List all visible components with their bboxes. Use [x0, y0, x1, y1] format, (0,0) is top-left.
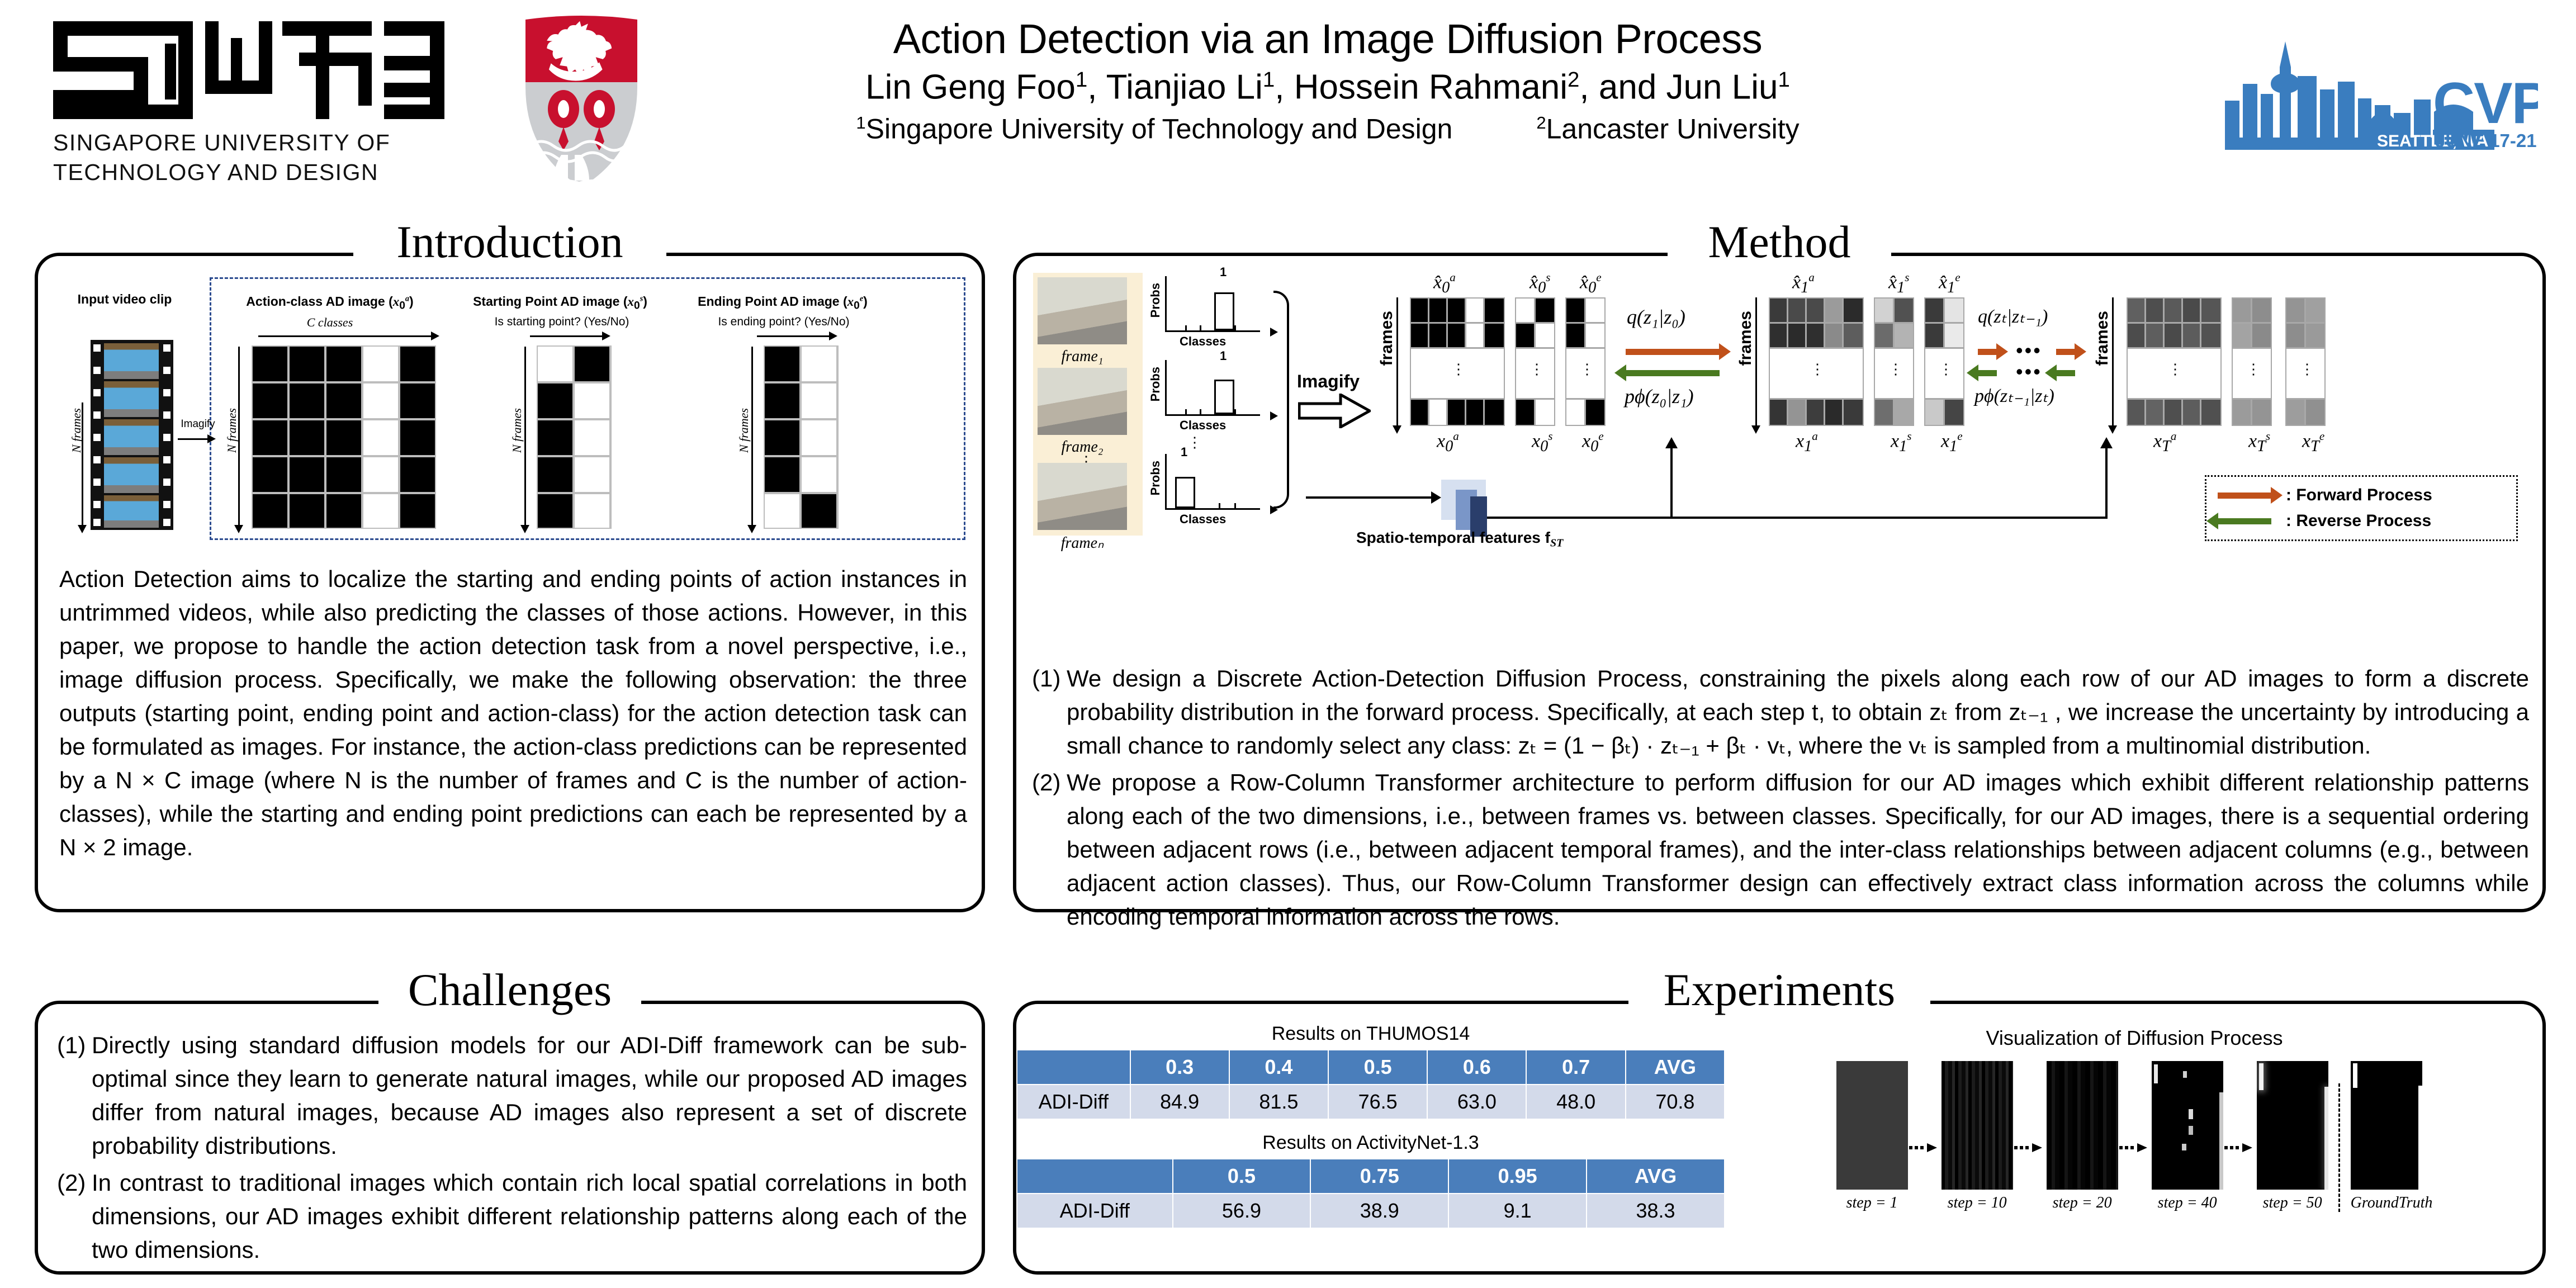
classes-axis-label-n: Classes — [1180, 512, 1226, 527]
st-bus-riser-2 — [2105, 447, 2108, 519]
cvpr-logo: SEATTLE, WA CVPR JUNE 17-21, 2024 — [2214, 28, 2538, 162]
viz-step-10: step = 10 — [1942, 1061, 2013, 1212]
n-frames-arrow-start — [524, 347, 526, 525]
prob-plots-brace — [1273, 291, 1289, 509]
method-text-2: We propose a Row-Column Transformer arch… — [1067, 766, 2529, 934]
xTa-label: xTa — [2153, 429, 2176, 456]
forward-arrow-T-b — [2056, 349, 2075, 355]
viz-divider — [2328, 1083, 2351, 1212]
viz-arrow-1 — [1908, 1083, 1942, 1212]
viz-arrow-4 — [2223, 1083, 2257, 1212]
xhat1e-label: x̂1e — [1939, 271, 1961, 297]
introduction-body-text: Action Detection aims to localize the st… — [59, 562, 967, 864]
cell-t1-4: 48.0 — [1526, 1085, 1625, 1119]
x0e-label: x0e — [1582, 429, 1604, 456]
sutd-name-line-2: TECHNOLOGY AND DESIGN — [53, 158, 495, 187]
viz-caption-step-40: step = 40 — [2152, 1194, 2223, 1212]
prob-peak-value-1: 1 — [1220, 265, 1227, 280]
st-bus-riser-1-head — [1665, 437, 1678, 448]
starting-point-ad-matrix — [537, 345, 612, 529]
cell-t2-3: 38.3 — [1587, 1194, 1725, 1228]
affiliation-2: Lancaster University — [1546, 113, 1800, 144]
reverse-arrow-1 — [1626, 370, 1720, 376]
x0s-label: x0s — [1532, 429, 1552, 456]
st-input-arrowhead — [1431, 491, 1441, 504]
method-list: (1) We design a Discrete Action-Detectio… — [1032, 662, 2529, 937]
viz-step-50: step = 50 — [2257, 1061, 2328, 1212]
cell-t1-5: 70.8 — [1626, 1085, 1725, 1119]
viz-caption-step-1: step = 1 — [1836, 1194, 1908, 1212]
x0a-label: x0a — [1437, 429, 1459, 456]
viz-arrow-2 — [2013, 1083, 2047, 1212]
reverse-ellipsis: ••• — [2016, 360, 2042, 383]
th-0-5: 0.5 — [1328, 1050, 1427, 1085]
list-item: (1) We design a Discrete Action-Detectio… — [1032, 662, 2529, 763]
xhat0a-label: x̂0a — [1433, 271, 1456, 297]
thumos14-table: 0.3 0.4 0.5 0.6 0.7 AVG ADI-Diff 84.9 81… — [1016, 1049, 1725, 1120]
frames-axis-arrow-T — [2112, 297, 2114, 426]
ending-point-ad-matrix — [764, 345, 839, 529]
n-frames-arrow-input — [82, 402, 83, 525]
viz-caption-groundtruth: GroundTruth — [2351, 1194, 2433, 1212]
action-class-ad-label: Action-class AD image (x0a) — [218, 294, 442, 312]
action-class-ad-matrix — [252, 345, 436, 529]
probs-axis-label-1: Probs — [1148, 283, 1163, 318]
prob-peak-value-2: 1 — [1220, 349, 1227, 363]
row-label-adidiff-2: ADI-Diff — [1017, 1194, 1173, 1228]
viz-step-20: step = 20 — [2047, 1061, 2118, 1212]
xTs-matrix: ⋮ — [2232, 297, 2272, 426]
th-avg-2: AVG — [1587, 1159, 1725, 1194]
method-figure: frame₁ frame₂ ⋮ frameₙ Probs 1 Classes P… — [1027, 266, 2537, 657]
sutd-name: SINGAPORE UNIVERSITY OF TECHNOLOGY AND D… — [53, 128, 495, 188]
frames-axis-arrow-1 — [1755, 297, 1757, 426]
xhat1a-label: x̂1a — [1792, 271, 1815, 297]
starting-point-question: Is starting point? (Yes/No) — [475, 315, 648, 329]
xTe-label: xTe — [2302, 429, 2324, 456]
list-item: (2) We propose a Row-Column Transformer … — [1032, 766, 2529, 934]
prob-plot-1: 1 — [1165, 274, 1271, 332]
method-marker-2: (2) — [1032, 766, 1067, 934]
th-0-7: 0.7 — [1526, 1050, 1625, 1085]
cvpr-dates-text: JUNE 17-21, 2024 — [2435, 130, 2538, 151]
table-row: ADI-Diff 84.9 81.5 76.5 63.0 48.0 70.8 — [1017, 1085, 1725, 1119]
th-0-6: 0.6 — [1427, 1050, 1526, 1085]
prob-plot-n: 1 — [1165, 452, 1271, 510]
viz-caption-step-50: step = 50 — [2257, 1194, 2328, 1212]
th-0-95: 0.95 — [1448, 1159, 1587, 1194]
method-panel: Method frame₁ frame₂ ⋮ frameₙ Probs 1 Cl… — [1013, 253, 2546, 912]
frame-label-n: frameₙ — [1032, 533, 1133, 552]
prob-peak-value-n: 1 — [1181, 445, 1187, 460]
imagify-block-arrow — [1298, 394, 1371, 428]
activitynet-caption: Results on ActivityNet-1.3 — [1016, 1132, 1725, 1154]
title-block: Action Detection via an Image Diffusion … — [727, 17, 1929, 144]
row-label-adidiff-1: ADI-Diff — [1017, 1085, 1130, 1119]
th-avg-1: AVG — [1626, 1050, 1725, 1085]
forward-arrow-T-a — [1978, 349, 1997, 355]
forward-transition-1: q(z₁|z₀) — [1627, 305, 1685, 329]
experiments-panel: Experiments Results on THUMOS14 0.3 0.4 … — [1013, 1001, 2546, 1275]
viz-image-step-20 — [2047, 1061, 2118, 1190]
list-item: (2) In contrast to traditional images wh… — [57, 1166, 967, 1267]
st-features-text: Spatio-temporal features f — [1356, 529, 1550, 546]
page-title: Action Detection via an Image Diffusion … — [727, 17, 1929, 61]
affiliation-list: 1Singapore University of Technology and … — [727, 113, 1929, 145]
thumos14-caption: Results on THUMOS14 — [1016, 1023, 1725, 1045]
imagify-label: Imagify — [174, 418, 221, 430]
sutd-name-line-1: SINGAPORE UNIVERSITY OF — [53, 128, 495, 158]
list-item: (1) Directly using standard diffusion mo… — [57, 1029, 967, 1163]
viz-image-step-50 — [2257, 1061, 2328, 1190]
method-text-1: We design a Discrete Action-Detection Di… — [1067, 662, 2529, 763]
probs-axis-label-n: Probs — [1148, 461, 1163, 495]
legend-row-forward: : Forward Process — [2218, 482, 2505, 508]
frame-thumbnail-n — [1038, 463, 1127, 530]
starting-point-arrow — [530, 335, 603, 337]
forward-ellipsis: ••• — [2016, 339, 2042, 362]
x1s-label: x1s — [1891, 429, 1911, 456]
viz-arrow-3 — [2118, 1083, 2152, 1212]
lancaster-crest-icon — [503, 14, 660, 193]
n-frames-label-start: N frames — [510, 408, 524, 453]
c-classes-arrow — [258, 335, 432, 337]
viz-image-step-1 — [1836, 1061, 1908, 1190]
forward-arrow-1 — [1626, 349, 1720, 355]
diffusion-visualization: Visualization of Diffusion Process step … — [1743, 1026, 2526, 1212]
cell-t1-2: 76.5 — [1328, 1085, 1427, 1119]
st-input-arrow — [1306, 496, 1433, 499]
xhat0e-label: x̂0e — [1580, 271, 1602, 297]
viz-groundtruth: GroundTruth — [2351, 1061, 2433, 1212]
legend-row-reverse: : Reverse Process — [2218, 508, 2505, 534]
challenge-text-2: In contrast to traditional images which … — [92, 1166, 967, 1267]
forward-transition-T: q(zₜ|zₜ₋₁) — [1978, 305, 2048, 328]
viz-step-40: step = 40 — [2152, 1061, 2223, 1212]
c-classes-label: C classes — [240, 315, 419, 329]
challenges-list: (1) Directly using standard diffusion mo… — [57, 1029, 967, 1270]
reverse-transition-T: pϕ(zₜ₋₁|zₜ) — [1974, 385, 2054, 407]
th-blank-2 — [1017, 1159, 1173, 1194]
introduction-figure: Input video clip N frames — [50, 268, 974, 548]
x1s-matrix: ⋮ — [1874, 297, 1914, 426]
viz-image-step-40 — [2152, 1061, 2223, 1190]
viz-caption-step-20: step = 20 — [2047, 1194, 2118, 1212]
challenge-text-1: Directly using standard diffusion models… — [92, 1029, 967, 1163]
table-row: ADI-Diff 56.9 38.9 9.1 38.3 — [1017, 1194, 1725, 1228]
viz-step-1: step = 1 — [1836, 1061, 1908, 1212]
th-0-4: 0.4 — [1229, 1050, 1328, 1085]
xTa-matrix: ⋮ — [2127, 297, 2222, 426]
table-header-row: 0.5 0.75 0.95 AVG — [1017, 1159, 1725, 1194]
frame-thumbnail-2 — [1038, 368, 1127, 435]
method-marker-1: (1) — [1032, 662, 1067, 763]
method-heading: Method — [1689, 219, 1869, 265]
st-bus-riser-2-head — [2100, 437, 2113, 448]
table-header-row: 0.3 0.4 0.5 0.6 0.7 AVG — [1017, 1050, 1725, 1085]
challenges-panel: Challenges (1) Directly using standard d… — [35, 1001, 985, 1275]
input-video-clip-label: Input video clip — [60, 292, 189, 306]
ending-point-arrow — [757, 335, 830, 337]
cell-t1-0: 84.9 — [1130, 1085, 1229, 1119]
legend-label-forward: : Forward Process — [2286, 486, 2432, 505]
st-bus-riser-1 — [1670, 447, 1673, 519]
cell-t2-2: 9.1 — [1448, 1194, 1587, 1228]
frame-label-1: frame₁ — [1032, 348, 1133, 366]
frames-axis-label-1: frames — [1736, 311, 1755, 366]
x1e-matrix: ⋮ — [1924, 297, 1964, 426]
challenge-marker-1: (1) — [57, 1029, 92, 1163]
x1e-label: x1e — [1941, 429, 1963, 456]
x1a-label: x1a — [1796, 429, 1818, 456]
author-list: Lin Geng Foo1, Tianjiao Li1, Hossein Rah… — [727, 68, 1929, 107]
ending-point-ad-label: Ending Point AD image (x0e) — [671, 294, 894, 312]
filmstrip — [91, 340, 173, 530]
sutd-logo-mark — [53, 21, 444, 119]
x1a-matrix: ⋮ — [1769, 297, 1864, 426]
cell-t1-3: 63.0 — [1427, 1085, 1526, 1119]
cell-t1-1: 81.5 — [1229, 1085, 1328, 1119]
prob-plots-ellipsis: ⋮ — [1187, 434, 1202, 451]
visualization-caption: Visualization of Diffusion Process — [1743, 1026, 2526, 1050]
reverse-arrow-T-b — [2056, 370, 2075, 376]
classes-axis-label-2: Classes — [1180, 418, 1226, 433]
activitynet-table: 0.5 0.75 0.95 AVG ADI-Diff 56.9 38.9 9.1… — [1016, 1158, 1725, 1229]
xhat0s-label: x̂0s — [1529, 271, 1550, 297]
xTe-matrix: ⋮ — [2285, 297, 2326, 426]
results-tables: Results on THUMOS14 0.3 0.4 0.5 0.6 0.7 … — [1016, 1023, 1725, 1229]
imagify-arrow — [178, 438, 208, 440]
visualization-strip: step = 1 step = 10 step = 20 — [1743, 1061, 2526, 1212]
th-0-75: 0.75 — [1310, 1159, 1448, 1194]
ending-point-question: Is ending point? (Yes/No) — [700, 315, 868, 329]
viz-image-groundtruth — [2351, 1061, 2422, 1190]
cvpr-wordmark: CVPR — [2433, 71, 2538, 136]
x0e-matrix: ⋮ — [1565, 297, 1606, 426]
viz-caption-step-10: step = 10 — [1942, 1194, 2013, 1212]
n-frames-label-end: N frames — [737, 408, 751, 453]
frames-axis-label-0: frames — [1377, 311, 1396, 366]
challenges-heading: Challenges — [389, 967, 631, 1013]
frames-axis-label-T: frames — [2093, 311, 2112, 366]
sutd-logo: SINGAPORE UNIVERSITY OF TECHNOLOGY AND D… — [53, 21, 495, 189]
frames-axis-arrow-0 — [1396, 297, 1398, 426]
th-0-5b: 0.5 — [1173, 1159, 1311, 1194]
viz-image-step-10 — [1942, 1061, 2013, 1190]
x0a-matrix: ⋮ — [1410, 297, 1505, 426]
probs-axis-label-2: Probs — [1148, 367, 1163, 401]
frame-thumbnail-1 — [1038, 277, 1127, 344]
xTs-label: xTs — [2248, 429, 2270, 456]
x0s-matrix: ⋮ — [1515, 297, 1555, 426]
poster-header: SINGAPORE UNIVERSITY OF TECHNOLOGY AND D… — [0, 0, 2576, 218]
xhat1s-label: x̂1s — [1888, 271, 1909, 297]
st-bus-horizontal — [1487, 517, 2108, 519]
th-0-3: 0.3 — [1130, 1050, 1229, 1085]
n-frames-arrow-end — [751, 347, 753, 525]
starting-point-ad-label: Starting Point AD image (x0s) — [448, 294, 672, 312]
affiliation-1: Singapore University of Technology and D… — [866, 113, 1453, 144]
experiments-heading: Experiments — [1645, 967, 1914, 1013]
imagify-label-method: Imagify — [1297, 371, 1360, 392]
introduction-heading: Introduction — [377, 219, 642, 265]
process-legend: : Forward Process : Reverse Process — [2205, 475, 2518, 541]
reverse-transition-1: pϕ(z₀|z₁) — [1625, 385, 1694, 408]
cell-t2-0: 56.9 — [1173, 1194, 1311, 1228]
reverse-arrow-T-a — [1978, 370, 1997, 376]
legend-label-reverse: : Reverse Process — [2286, 512, 2431, 531]
prob-plot-2: 1 — [1165, 358, 1271, 416]
st-features-subscript: ST — [1550, 537, 1563, 550]
n-frames-label-action: N frames — [225, 408, 239, 453]
th-blank-1 — [1017, 1050, 1130, 1085]
introduction-panel: Introduction Input video clip — [35, 253, 985, 912]
n-frames-arrow-action — [238, 347, 240, 525]
classes-axis-label-1: Classes — [1180, 334, 1226, 349]
challenge-marker-2: (2) — [57, 1166, 92, 1267]
st-features-caption: Spatio-temporal features fST — [1356, 529, 1563, 550]
cell-t2-1: 38.9 — [1310, 1194, 1448, 1228]
